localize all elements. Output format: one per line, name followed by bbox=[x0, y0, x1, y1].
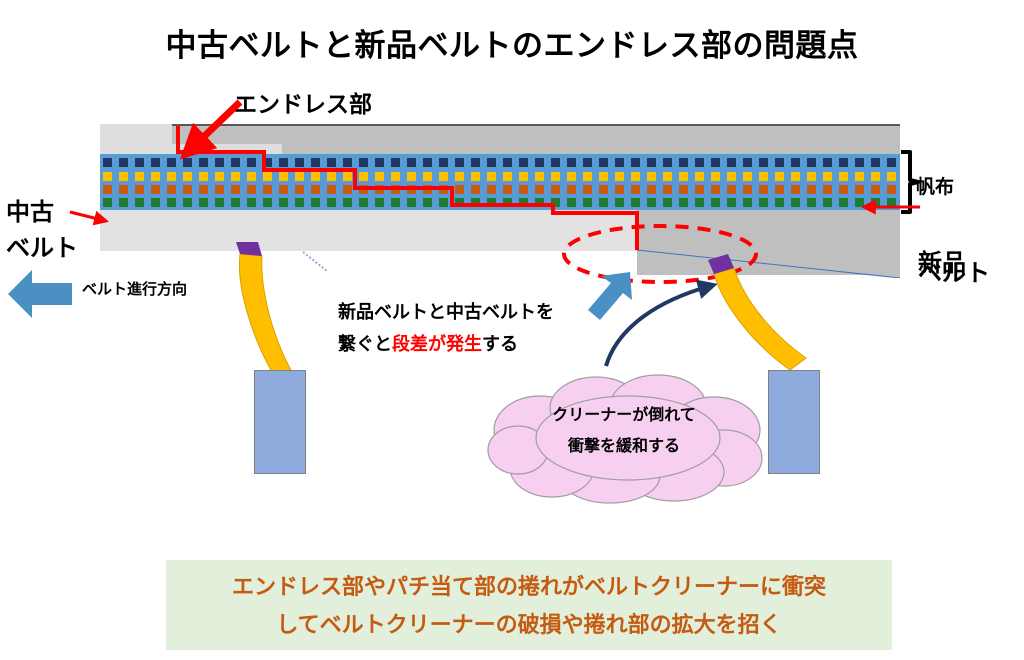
thread-row-gold bbox=[100, 172, 900, 181]
label-canvas-layer: 帆布 bbox=[916, 172, 954, 199]
used-belt-arrow-icon bbox=[68, 206, 114, 228]
cleaner-base-right bbox=[768, 370, 820, 474]
cloud-line1: クリーナーが倒れて bbox=[508, 400, 740, 431]
step-note-suffix: する bbox=[482, 334, 518, 354]
belt-cleaner-left bbox=[214, 240, 324, 380]
summary-line1: エンドレス部やパチ当て部の捲れがベルトクリーナーに衝突 bbox=[166, 568, 892, 606]
page-title: 中古ベルトと新品ベルトのエンドレス部の問題点 bbox=[0, 20, 1024, 65]
thread-row-brown bbox=[100, 185, 900, 194]
label-belt-direction: ベルト進行方向 bbox=[82, 278, 187, 299]
step-note: 新品ベルトと中古ベルトを 繋ぐと段差が発生する bbox=[338, 296, 554, 360]
label-endless-section: エンドレス部 bbox=[234, 85, 372, 119]
step-note-line2: 繋ぐと段差が発生する bbox=[338, 328, 554, 360]
cleaner-base-left bbox=[254, 370, 306, 474]
cloud-line2: 衝撃を緩和する bbox=[508, 431, 740, 462]
canvas-layer-band bbox=[100, 154, 900, 210]
label-used-belt-line1: 中古 bbox=[6, 192, 54, 227]
thread-row-green bbox=[100, 198, 900, 207]
step-note-line1: 新品ベルトと中古ベルトを bbox=[338, 296, 554, 328]
summary-line2: してベルトクリーナーの破損や捲れ部の拡大を招く bbox=[166, 606, 892, 644]
diagram-canvas: 中古ベルトと新品ベルトのエンドレス部の問題点 エンドレス部 中古 ベルト bbox=[0, 0, 1024, 660]
belt-direction-arrow-icon bbox=[6, 266, 74, 322]
endless-arrow-icon bbox=[160, 100, 250, 160]
cloud-callout-text: クリーナーが倒れて 衝撃を緩和する bbox=[508, 400, 740, 462]
step-note-highlight: 段差が発生 bbox=[392, 334, 482, 354]
new-belt-arrow-icon bbox=[862, 196, 922, 218]
belt-bottom-cover-used bbox=[100, 210, 637, 251]
summary-banner-text: エンドレス部やパチ当て部の捲れがベルトクリーナーに衝突 してベルトクリーナーの破… bbox=[166, 568, 892, 644]
label-used-belt-line2: ベルト bbox=[6, 228, 78, 263]
label-new-belt-line2: ベルト bbox=[918, 253, 990, 288]
step-note-prefix: 繋ぐと bbox=[338, 334, 392, 354]
cloud-pointer-arrow-icon bbox=[600, 270, 730, 380]
